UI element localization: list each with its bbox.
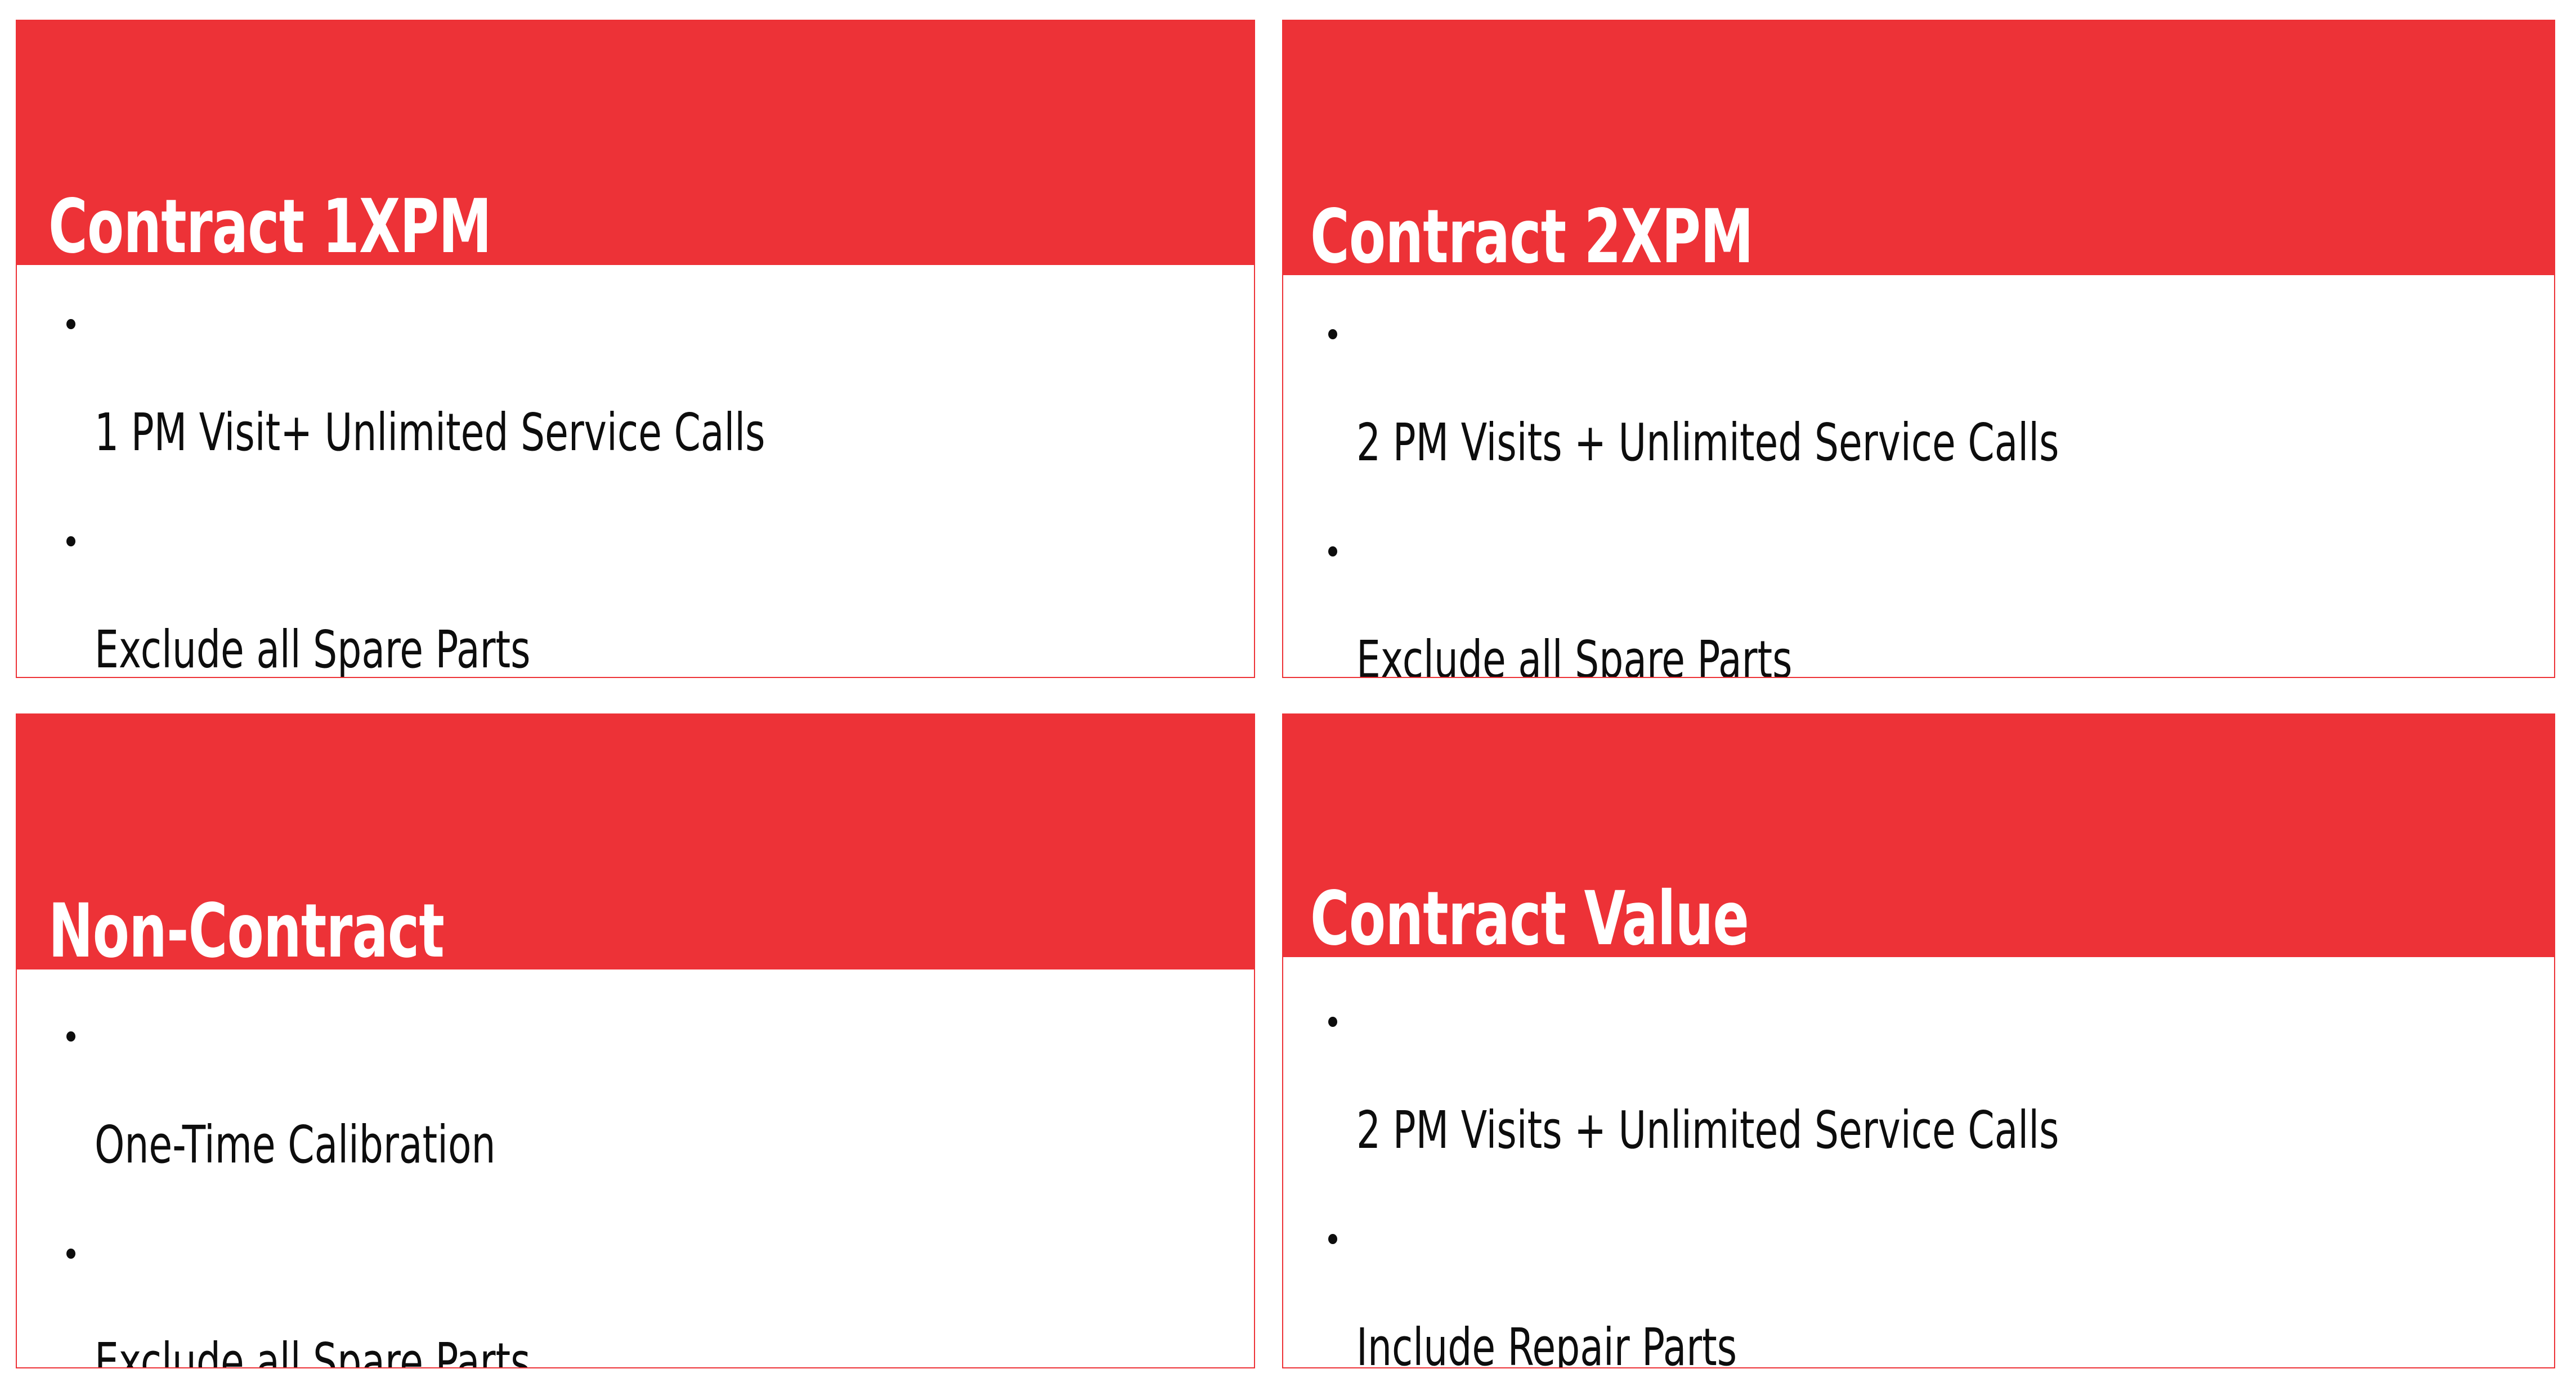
card-title: Contract Value: [1310, 882, 1749, 956]
card-body-contract-1xpm: 1 PM Visit+ Unlimited Service Calls Excl…: [16, 264, 1255, 678]
card-contract-value[interactable]: Contract Value 2 PM Visits + Unlimited S…: [1282, 713, 2555, 1368]
bullet-dot-icon: [66, 319, 75, 329]
list-item-label: Exclude all Spare Parts: [95, 1336, 1045, 1368]
list-item: Exclude all Spare Parts: [1328, 531, 2554, 678]
list-item-label: 1 PM Visit+ Unlimited Service Calls: [95, 407, 1045, 459]
list-item: 2 PM Visits + Unlimited Service Calls: [1328, 313, 2554, 520]
card-title: Contract 2XPM: [1310, 200, 1753, 274]
list-item: Exclude all Spare Parts: [66, 520, 1254, 678]
bullet-dot-icon: [66, 536, 75, 546]
card-title: Contract 1XPM: [48, 190, 491, 264]
bullet-dot-icon: [1328, 1234, 1337, 1244]
card-header-contract-value: Contract Value: [1282, 713, 2555, 956]
bullet-dot-icon: [1328, 1017, 1337, 1027]
card-non-contract[interactable]: Non-Contract One-Time Calibration Exclud…: [16, 713, 1255, 1368]
bullet-dot-icon: [66, 1031, 75, 1042]
list-item: One-Time Calibration: [66, 1016, 1254, 1223]
bullet-dot-icon: [66, 1249, 75, 1259]
list-item-label: Exclude all Spare Parts: [1356, 634, 2338, 678]
card-contract-1xpm[interactable]: Contract 1XPM 1 PM Visit+ Unlimited Serv…: [16, 20, 1255, 678]
card-header-contract-1xpm: Contract 1XPM: [16, 20, 1255, 264]
list-item: 1 PM Visit+ Unlimited Service Calls: [66, 303, 1254, 510]
bullet-dot-icon: [1328, 546, 1337, 556]
list-item: 2 PM Visits + Unlimited Service Calls: [1328, 1001, 2554, 1208]
list-item-label: 2 PM Visits + Unlimited Service Calls: [1356, 417, 2338, 469]
list-item: Exclude all Spare Parts: [66, 1233, 1254, 1368]
card-header-non-contract: Non-Contract: [16, 713, 1255, 968]
service-plan-comparison-board: Contract 1XPM 1 PM Visit+ Unlimited Serv…: [0, 0, 2576, 1387]
feature-list: 2 PM Visits + Unlimited Service Calls In…: [1328, 1001, 2554, 1368]
list-item-label: Include Repair Parts (AC Adaptor, Keypad…: [1356, 1322, 2338, 1368]
list-item-label: 2 PM Visits + Unlimited Service Calls: [1356, 1105, 2338, 1156]
feature-list: One-Time Calibration Exclude all Spare P…: [66, 1016, 1254, 1368]
feature-list: 1 PM Visit+ Unlimited Service Calls Excl…: [66, 303, 1254, 678]
list-item-label: Exclude all Spare Parts: [95, 624, 1045, 676]
card-body-non-contract: One-Time Calibration Exclude all Spare P…: [16, 968, 1255, 1368]
card-contract-2xpm[interactable]: Contract 2XPM 2 PM Visits + Unlimited Se…: [1282, 20, 2555, 678]
card-title: Non-Contract: [48, 894, 444, 968]
list-item: Include Repair Parts (AC Adaptor, Keypad…: [1328, 1218, 2554, 1368]
feature-list: 2 PM Visits + Unlimited Service Calls Ex…: [1328, 313, 2554, 678]
card-body-contract-2xpm: 2 PM Visits + Unlimited Service Calls Ex…: [1282, 274, 2555, 678]
bullet-dot-icon: [1328, 329, 1337, 339]
list-item-label: One-Time Calibration: [95, 1119, 1045, 1171]
card-body-contract-value: 2 PM Visits + Unlimited Service Calls In…: [1282, 956, 2555, 1368]
card-header-contract-2xpm: Contract 2XPM: [1282, 20, 2555, 274]
